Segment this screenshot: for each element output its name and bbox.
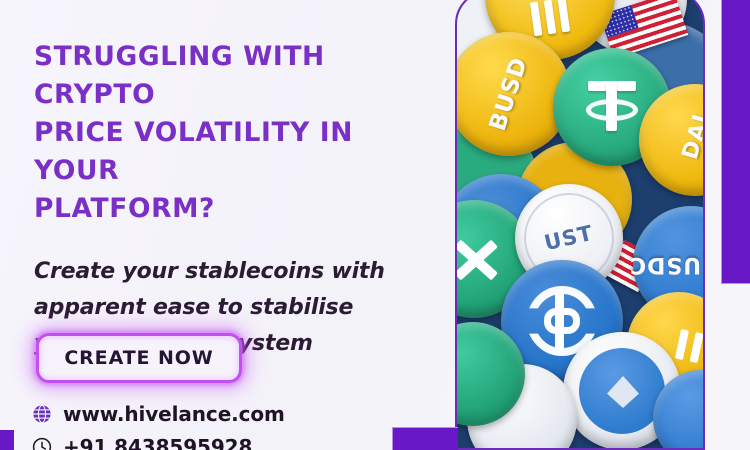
create-now-button-label: CREATE NOW bbox=[64, 347, 213, 369]
globe-icon bbox=[32, 404, 52, 424]
phone-text: +91 8438595928 bbox=[63, 435, 252, 450]
coin-dai-label: DAI bbox=[678, 110, 705, 162]
coin-pile: BUSD DAI USDC bbox=[457, 0, 703, 448]
purple-accent-nub-left bbox=[0, 430, 14, 450]
copy-column: STRUGGLING WITH CRYPTO PRICE VOLATILITY … bbox=[34, 38, 434, 362]
ad-banner: STRUGGLING WITH CRYPTO PRICE VOLATILITY … bbox=[0, 0, 750, 450]
headline-line-2: PRICE VOLATILITY IN YOUR bbox=[34, 114, 434, 190]
coin-image-panel: BUSD DAI USDC bbox=[455, 0, 705, 450]
website-row[interactable]: www.hivelance.com bbox=[32, 402, 285, 426]
subheadline-line-1: Create your stablecoins with bbox=[34, 254, 434, 290]
purple-accent-bar-bottom bbox=[392, 427, 458, 450]
phone-circle-icon bbox=[32, 437, 52, 450]
create-now-button[interactable]: CREATE NOW bbox=[36, 333, 242, 383]
coin-busd-label: BUSD bbox=[485, 54, 533, 134]
website-text: www.hivelance.com bbox=[63, 402, 285, 426]
headline-line-3: PLATFORM? bbox=[34, 190, 434, 228]
page-title: STRUGGLING WITH CRYPTO PRICE VOLATILITY … bbox=[34, 38, 434, 228]
cta-container: CREATE NOW bbox=[36, 333, 242, 383]
purple-accent-bar-right bbox=[721, 0, 750, 284]
contact-block: www.hivelance.com +91 8438595928 bbox=[32, 402, 285, 450]
subheadline-line-2: apparent ease to stabilise bbox=[34, 290, 434, 326]
coin-usdc-edge-label: USDC bbox=[629, 252, 701, 277]
headline-line-1: STRUGGLING WITH CRYPTO bbox=[34, 38, 434, 114]
phone-row[interactable]: +91 8438595928 bbox=[32, 435, 285, 450]
